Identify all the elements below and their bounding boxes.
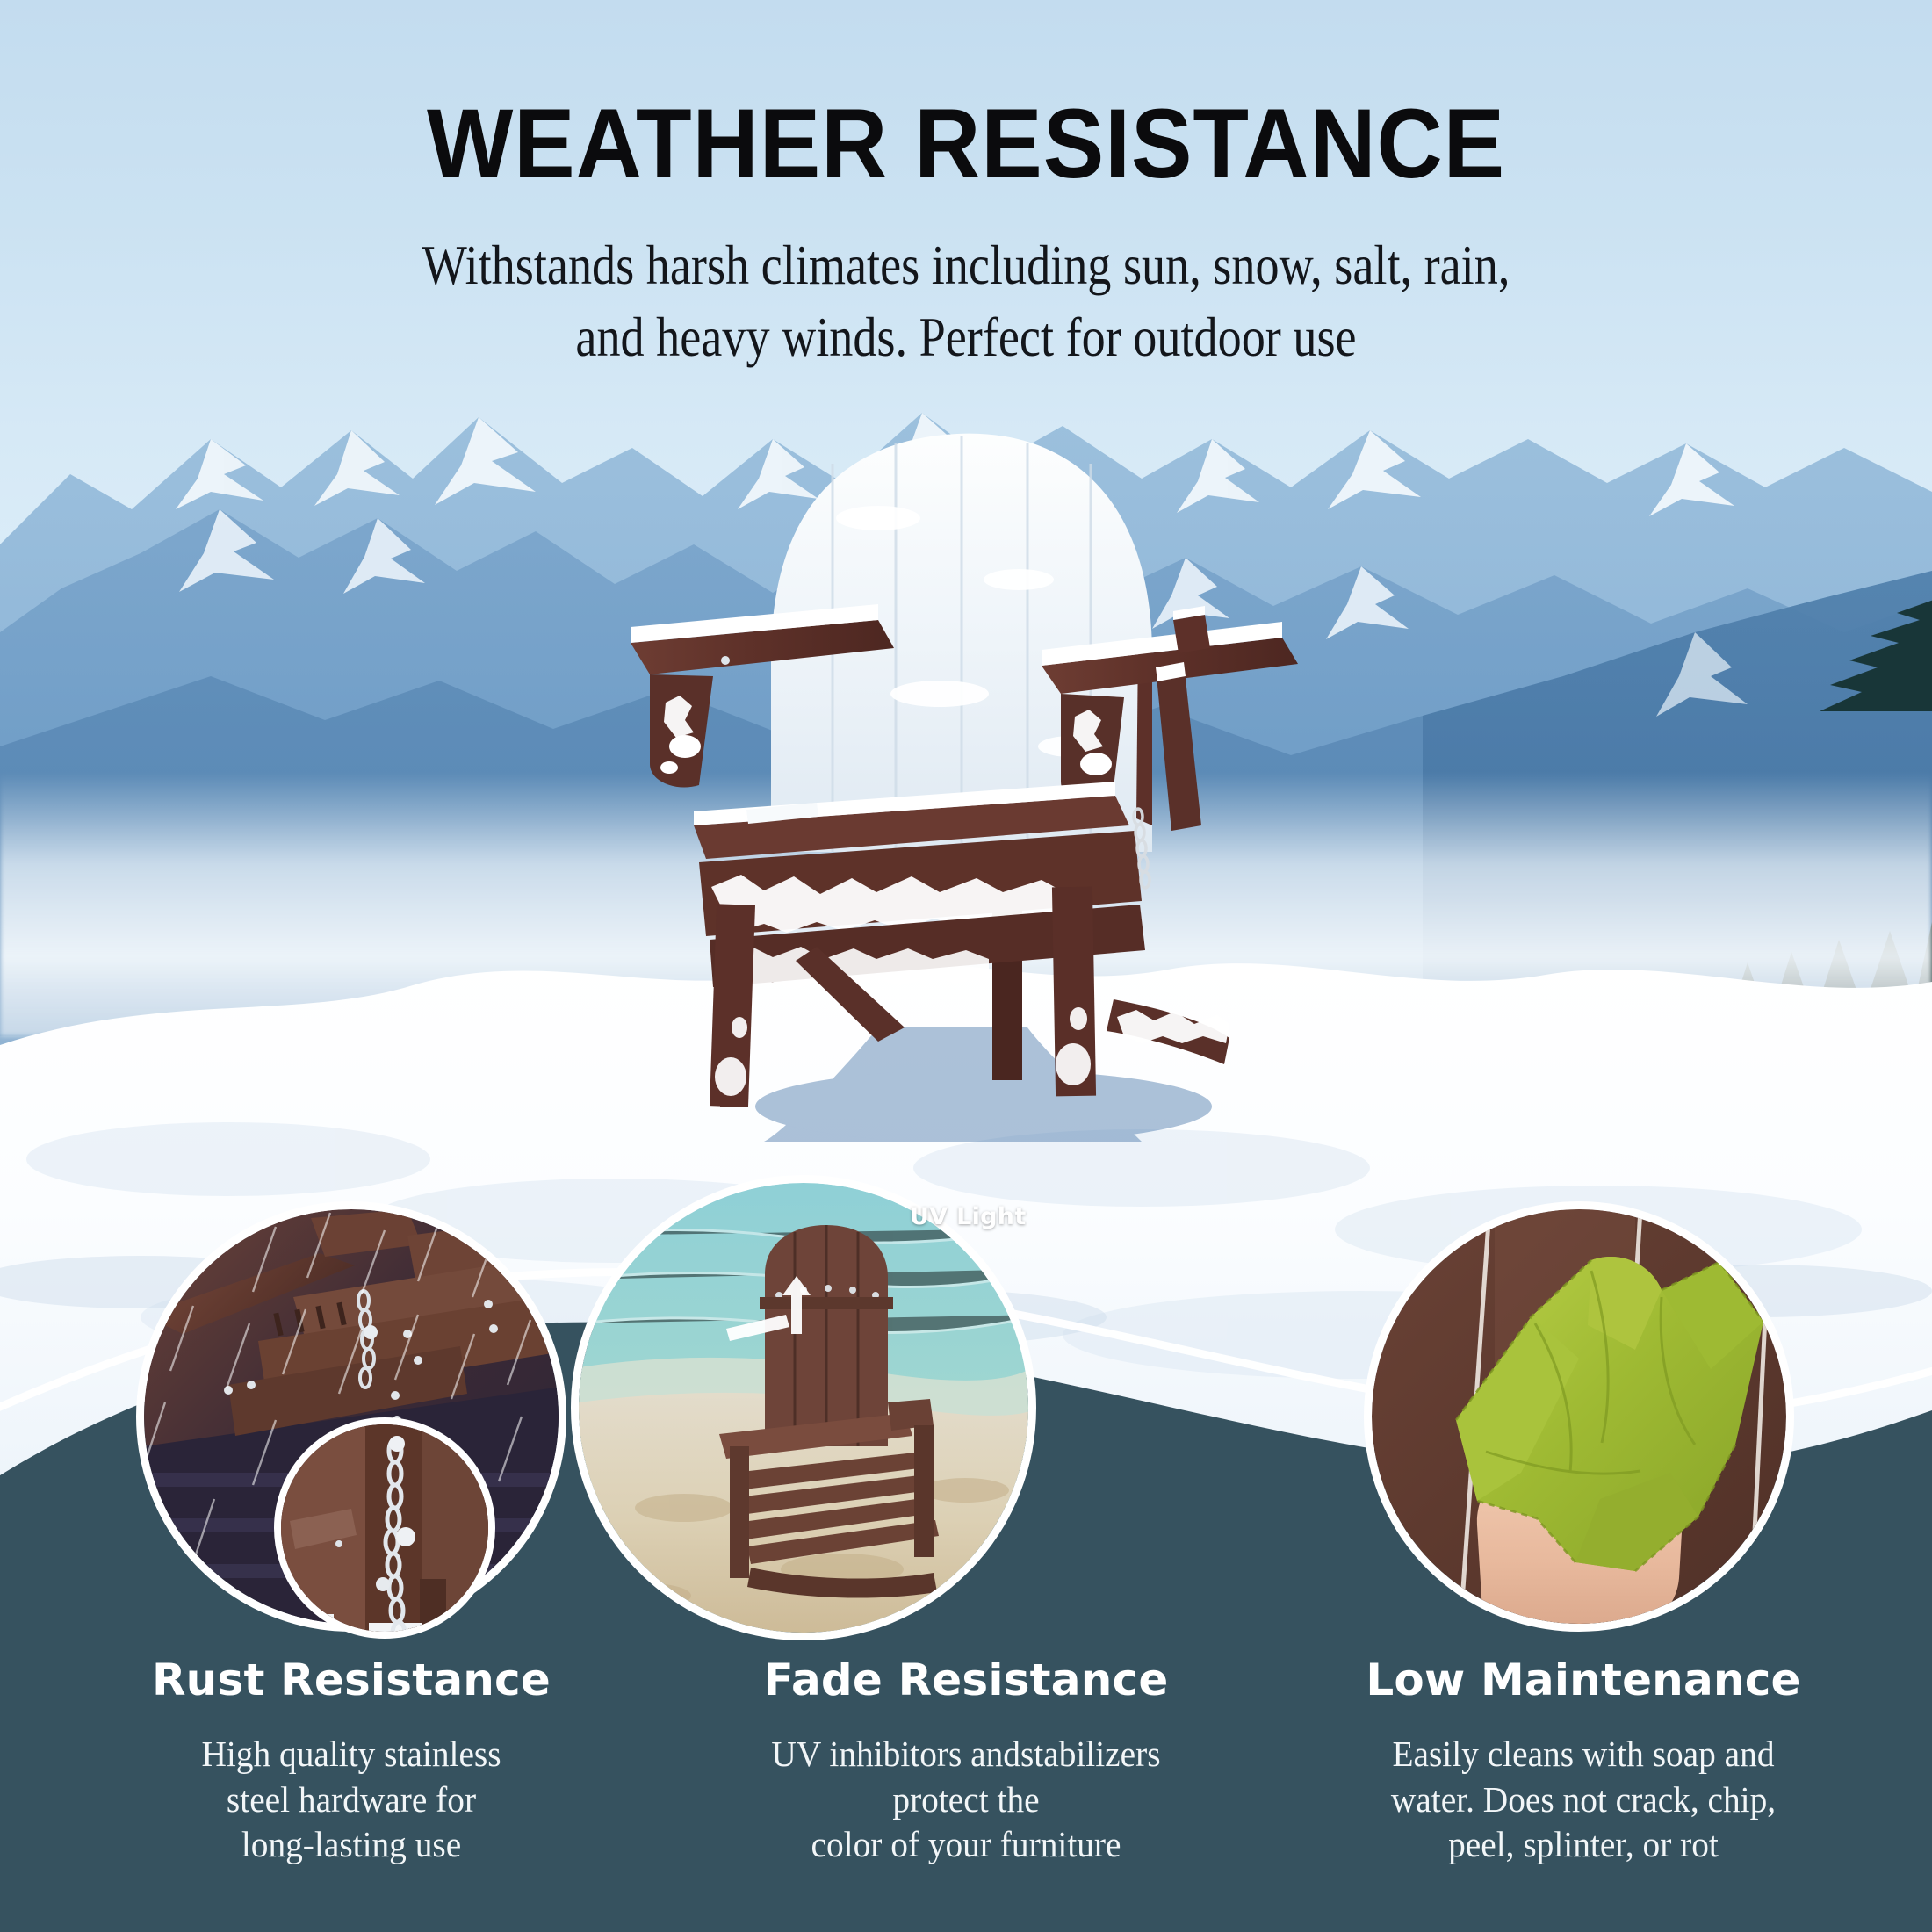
- subtitle-line-1: Withstands harsh climates including sun,…: [377, 230, 1555, 302]
- card-title-fade-resistance: Fade Resistance: [667, 1654, 1265, 1705]
- card-title-rust-resistance: Rust Resistance: [53, 1654, 650, 1705]
- card-title-low-maintenance: Low Maintenance: [1280, 1654, 1886, 1705]
- subtitle-line-2: and heavy winds. Perfect for outdoor use: [377, 302, 1555, 374]
- uv-light-annotation-label: UV Light: [910, 1203, 1027, 1230]
- card-body-line-1: UV inhibitors andstabilizers: [662, 1732, 1269, 1777]
- card-body-rust-resistance: High quality stainless steel hardware fo…: [65, 1732, 638, 1868]
- card-image-low-maintenance: [1364, 1201, 1794, 1632]
- card-body-line-3: peel, splinter, or rot: [1284, 1822, 1883, 1868]
- card-body-line-1: Easily cleans with soap and: [1284, 1732, 1883, 1777]
- page-title: WEATHER RESISTANCE: [68, 95, 1864, 193]
- card-body-line-3: color of your furniture: [662, 1822, 1269, 1868]
- infographic-canvas: WEATHER RESISTANCE Withstands harsh clim…: [0, 0, 1932, 1932]
- pine-branch: [1739, 544, 1932, 746]
- card-body-line-2: steel hardware for: [65, 1777, 638, 1823]
- card-body-line-1: High quality stainless: [65, 1732, 638, 1777]
- card-body-line-2: protect the: [662, 1777, 1269, 1823]
- card-body-fade-resistance: UV inhibitors andstabilizers protect the…: [662, 1732, 1269, 1868]
- card-body-low-maintenance: Easily cleans with soap and water. Does …: [1284, 1732, 1883, 1868]
- card-body-line-2: water. Does not crack, chip,: [1284, 1777, 1883, 1823]
- card-image-rust-inset-detail: [274, 1417, 495, 1639]
- page-subtitle: Withstands harsh climates including sun,…: [377, 230, 1555, 374]
- card-image-fade-resistance: [571, 1175, 1036, 1640]
- hero-chair-image: [615, 413, 1335, 1142]
- card-body-line-3: long-lasting use: [65, 1822, 638, 1868]
